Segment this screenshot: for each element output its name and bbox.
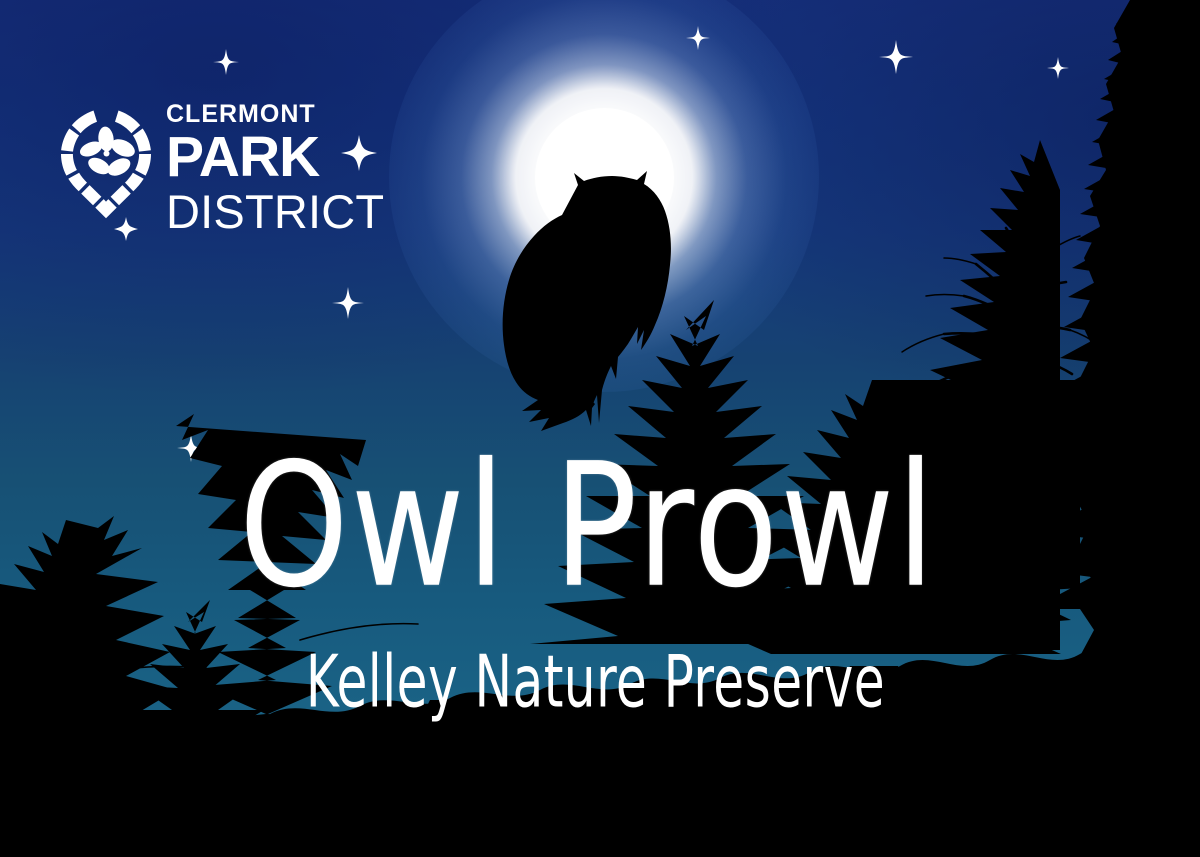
poster-canvas: CLERMONT PARK DISTRICT Owl Prowl Kelley …	[0, 0, 1200, 857]
logo-accent-sparkle-icon	[113, 216, 139, 247]
logo-line-clermont: CLERMONT	[166, 100, 402, 128]
owl-silhouette-icon	[503, 171, 671, 431]
logo-sparkle-icon	[340, 134, 378, 177]
logo-line-park: PARK	[166, 125, 319, 189]
clermont-park-district-logo[interactable]: CLERMONT PARK DISTRICT	[60, 100, 400, 245]
logo-wordmark: CLERMONT PARK DISTRICT	[166, 100, 402, 238]
map-pin-flower-icon	[60, 106, 152, 224]
logo-line-district: DISTRICT	[166, 186, 402, 238]
